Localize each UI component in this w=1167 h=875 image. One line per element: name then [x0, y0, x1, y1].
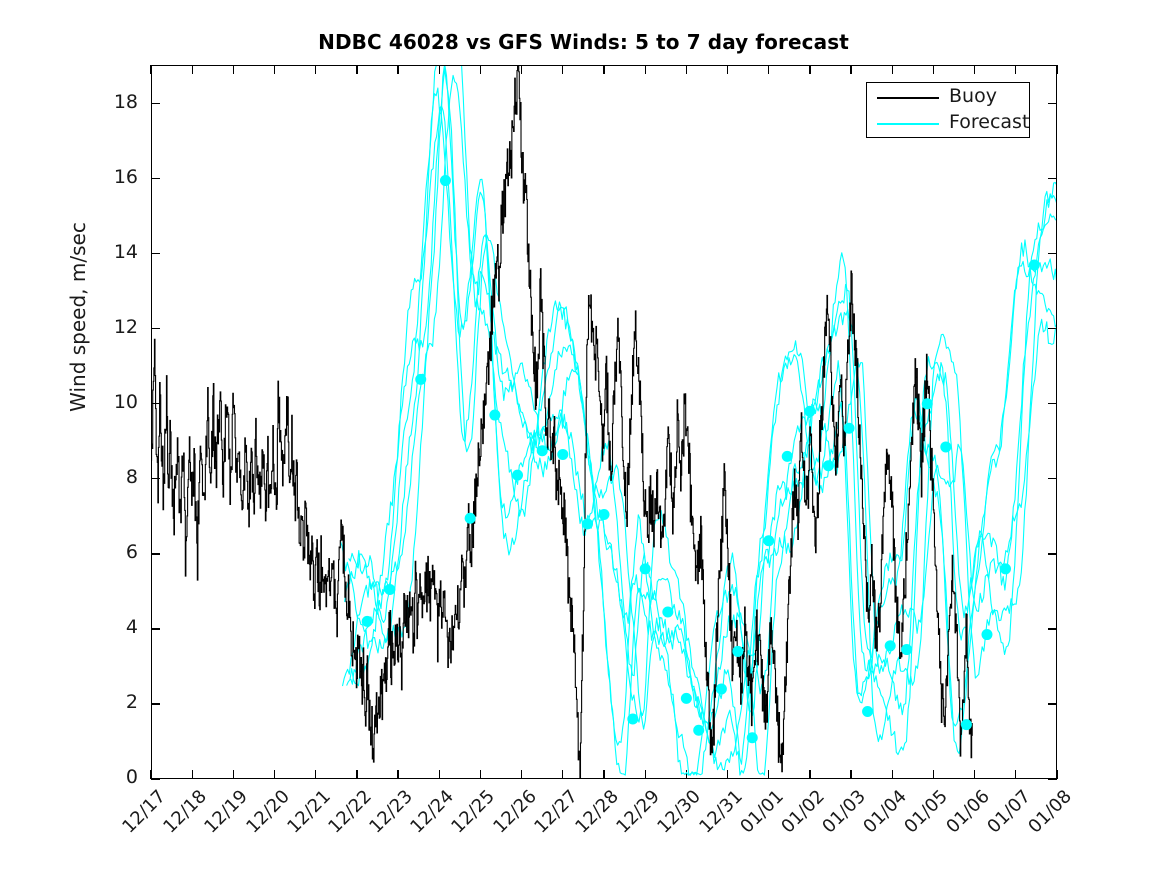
- y-tick-label: 2: [78, 691, 138, 713]
- legend[interactable]: Buoy Forecast: [866, 82, 1030, 138]
- y-tick-label: 6: [78, 541, 138, 563]
- y-tick-label: 10: [78, 391, 138, 413]
- chart-title: NDBC 46028 vs GFS Winds: 5 to 7 day fore…: [0, 30, 1167, 54]
- y-tick-label: 4: [78, 616, 138, 638]
- plot-frame: [151, 65, 1057, 779]
- y-tick-label: 0: [78, 766, 138, 788]
- legend-entry-buoy[interactable]: Buoy: [867, 84, 1031, 112]
- legend-label-forecast: Forecast: [949, 111, 1029, 133]
- y-tick-label: 12: [78, 316, 138, 338]
- figure-canvas: NDBC 46028 vs GFS Winds: 5 to 7 day fore…: [0, 0, 1167, 875]
- y-tick-label: 8: [78, 466, 138, 488]
- y-tick-label: 14: [78, 241, 138, 263]
- legend-label-buoy: Buoy: [949, 85, 997, 107]
- legend-entry-forecast[interactable]: Forecast: [867, 110, 1031, 138]
- y-tick-label: 16: [78, 166, 138, 188]
- legend-swatch-buoy: [877, 97, 939, 99]
- legend-swatch-forecast: [877, 123, 939, 125]
- y-tick-label: 18: [78, 91, 138, 113]
